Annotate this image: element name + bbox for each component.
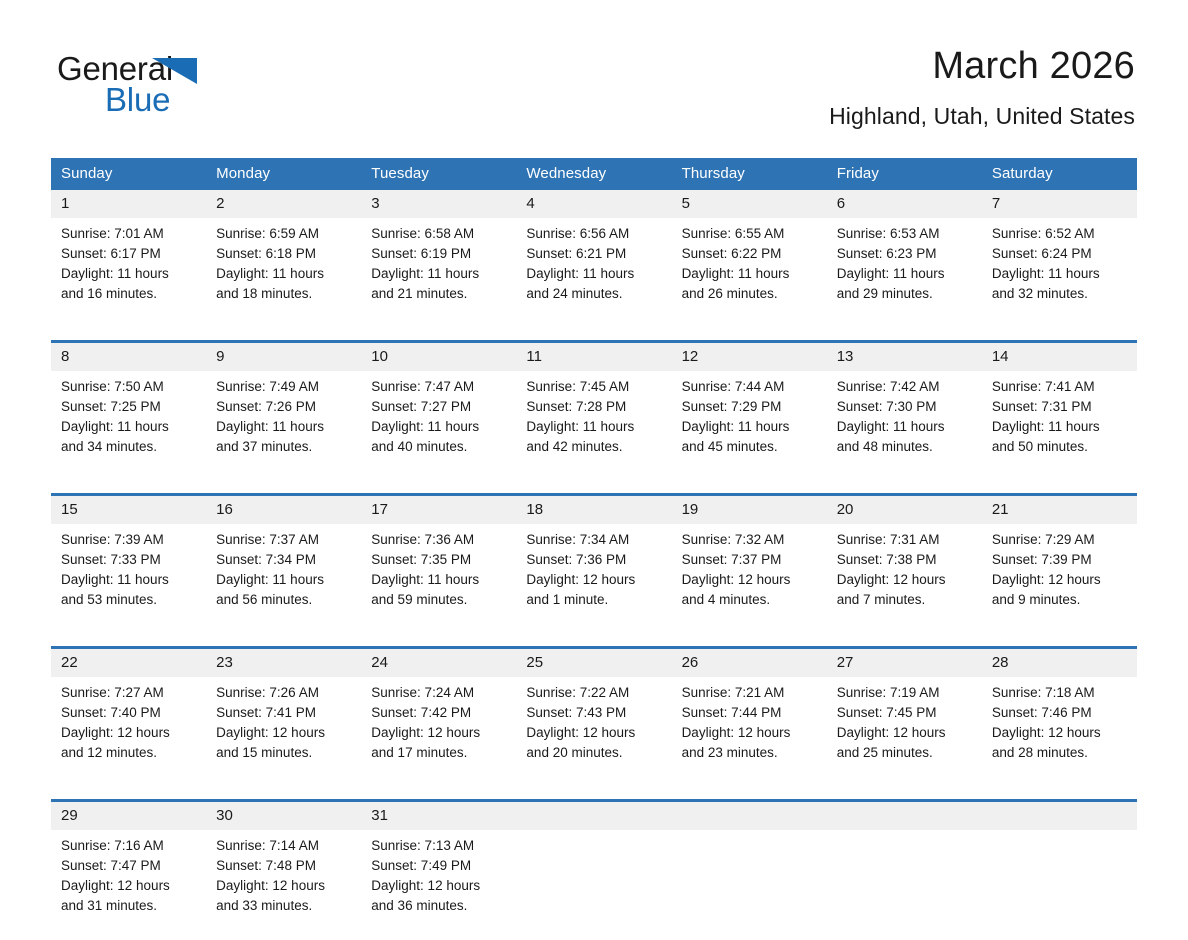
day-number: 13 [827,343,982,371]
daylight-text-line2: and 32 minutes. [992,284,1129,304]
daylight-text-line1: Daylight: 12 hours [992,723,1129,743]
week-spacer-cell [51,481,1137,495]
daylight-text-line2: and 48 minutes. [837,437,974,457]
sunset-text: Sunset: 7:25 PM [61,397,198,417]
daylight-text-line2: and 15 minutes. [216,743,353,763]
calendar-day-cell[interactable]: 8Sunrise: 7:50 AMSunset: 7:25 PMDaylight… [51,342,206,482]
calendar-week-row: 1Sunrise: 7:01 AMSunset: 6:17 PMDaylight… [51,190,1137,328]
day-sun-info: Sunrise: 7:37 AMSunset: 7:34 PMDaylight:… [206,524,361,622]
sunset-text: Sunset: 7:37 PM [682,550,819,570]
daylight-text-line1: Daylight: 12 hours [371,723,508,743]
daylight-text-line1: Daylight: 11 hours [837,264,974,284]
day-number: 4 [516,190,671,218]
day-sun-info: Sunrise: 7:47 AMSunset: 7:27 PMDaylight:… [361,371,516,469]
day-body: Sunrise: 7:36 AMSunset: 7:35 PMDaylight:… [361,524,516,634]
daylight-text-line1: Daylight: 12 hours [526,723,663,743]
daylight-text-line2: and 59 minutes. [371,590,508,610]
day-body: Sunrise: 7:31 AMSunset: 7:38 PMDaylight:… [827,524,982,634]
day-sun-info: Sunrise: 7:22 AMSunset: 7:43 PMDaylight:… [516,677,671,775]
week-spacer-cell [51,328,1137,342]
sunrise-text: Sunrise: 7:27 AM [61,683,198,703]
calendar-week-row: 22Sunrise: 7:27 AMSunset: 7:40 PMDayligh… [51,648,1137,788]
day-number: 12 [672,343,827,371]
day-number: 27 [827,649,982,677]
daylight-text-line1: Daylight: 11 hours [216,570,353,590]
sunset-text: Sunset: 7:46 PM [992,703,1129,723]
week-spacer-cell [51,634,1137,648]
day-sun-info: Sunrise: 6:56 AMSunset: 6:21 PMDaylight:… [516,218,671,316]
day-number: 24 [361,649,516,677]
day-number: 22 [51,649,206,677]
calendar-day-cell[interactable]: 26Sunrise: 7:21 AMSunset: 7:44 PMDayligh… [672,648,827,788]
daylight-text-line2: and 20 minutes. [526,743,663,763]
logo-text-blue: Blue [105,83,170,116]
day-number [827,802,982,830]
sunrise-text: Sunrise: 7:26 AM [216,683,353,703]
calendar-day-cell[interactable]: 5Sunrise: 6:55 AMSunset: 6:22 PMDaylight… [672,190,827,328]
day-sun-info: Sunrise: 7:19 AMSunset: 7:45 PMDaylight:… [827,677,982,775]
sunrise-text: Sunrise: 7:31 AM [837,530,974,550]
calendar-day-cell[interactable]: 18Sunrise: 7:34 AMSunset: 7:36 PMDayligh… [516,495,671,635]
daylight-text-line2: and 26 minutes. [682,284,819,304]
day-sun-info: Sunrise: 7:21 AMSunset: 7:44 PMDaylight:… [672,677,827,775]
sunrise-text: Sunrise: 7:21 AM [682,683,819,703]
daylight-text-line2: and 45 minutes. [682,437,819,457]
day-body: Sunrise: 7:22 AMSunset: 7:43 PMDaylight:… [516,677,671,787]
day-sun-info: Sunrise: 7:39 AMSunset: 7:33 PMDaylight:… [51,524,206,622]
day-sun-info: Sunrise: 6:52 AMSunset: 6:24 PMDaylight:… [982,218,1137,316]
daylight-text-line2: and 56 minutes. [216,590,353,610]
day-sun-info: Sunrise: 7:13 AMSunset: 7:49 PMDaylight:… [361,830,516,928]
day-sun-info: Sunrise: 7:32 AMSunset: 7:37 PMDaylight:… [672,524,827,622]
daylight-text-line1: Daylight: 12 hours [992,570,1129,590]
sunrise-text: Sunrise: 6:59 AM [216,224,353,244]
day-body: Sunrise: 7:42 AMSunset: 7:30 PMDaylight:… [827,371,982,481]
day-body: Sunrise: 7:50 AMSunset: 7:25 PMDaylight:… [51,371,206,481]
page-subtitle: Highland, Utah, United States [829,101,1135,131]
day-body [982,830,1137,940]
weekday-header-sunday: Sunday [51,158,206,190]
day-number [982,802,1137,830]
day-body [516,830,671,940]
day-number: 8 [51,343,206,371]
sunrise-text: Sunrise: 7:44 AM [682,377,819,397]
daylight-text-line2: and 40 minutes. [371,437,508,457]
week-spacer-row [51,481,1137,495]
day-number: 20 [827,496,982,524]
sunrise-text: Sunrise: 7:22 AM [526,683,663,703]
day-sun-info: Sunrise: 7:14 AMSunset: 7:48 PMDaylight:… [206,830,361,928]
week-spacer-row [51,634,1137,648]
day-number: 18 [516,496,671,524]
calendar-body: 1Sunrise: 7:01 AMSunset: 6:17 PMDaylight… [51,190,1137,940]
day-number: 2 [206,190,361,218]
sunrise-text: Sunrise: 7:42 AM [837,377,974,397]
daylight-text-line2: and 28 minutes. [992,743,1129,763]
sunrise-text: Sunrise: 7:50 AM [61,377,198,397]
day-sun-info: Sunrise: 7:50 AMSunset: 7:25 PMDaylight:… [51,371,206,469]
day-number: 3 [361,190,516,218]
day-number: 30 [206,802,361,830]
weekday-header-wednesday: Wednesday [516,158,671,190]
day-sun-info: Sunrise: 6:55 AMSunset: 6:22 PMDaylight:… [672,218,827,316]
daylight-text-line1: Daylight: 11 hours [992,417,1129,437]
daylight-text-line1: Daylight: 11 hours [682,264,819,284]
sunset-text: Sunset: 7:26 PM [216,397,353,417]
sunrise-text: Sunrise: 7:49 AM [216,377,353,397]
day-sun-info: Sunrise: 7:49 AMSunset: 7:26 PMDaylight:… [206,371,361,469]
day-body: Sunrise: 7:39 AMSunset: 7:33 PMDaylight:… [51,524,206,634]
weekday-header-monday: Monday [206,158,361,190]
sunrise-text: Sunrise: 7:36 AM [371,530,508,550]
sunrise-text: Sunrise: 7:37 AM [216,530,353,550]
day-number: 9 [206,343,361,371]
day-body [672,830,827,940]
calendar-week-row: 29Sunrise: 7:16 AMSunset: 7:47 PMDayligh… [51,801,1137,940]
daylight-text-line1: Daylight: 12 hours [837,570,974,590]
sunset-text: Sunset: 7:33 PM [61,550,198,570]
daylight-text-line1: Daylight: 12 hours [216,876,353,896]
daylight-text-line2: and 7 minutes. [837,590,974,610]
sunset-text: Sunset: 7:48 PM [216,856,353,876]
page-title: March 2026 [829,44,1135,88]
week-spacer-row [51,328,1137,342]
day-sun-info: Sunrise: 7:36 AMSunset: 7:35 PMDaylight:… [361,524,516,622]
day-sun-info: Sunrise: 7:34 AMSunset: 7:36 PMDaylight:… [516,524,671,622]
calendar-day-cell[interactable]: 11Sunrise: 7:45 AMSunset: 7:28 PMDayligh… [516,342,671,482]
daylight-text-line2: and 33 minutes. [216,896,353,916]
calendar-header-row: Sunday Monday Tuesday Wednesday Thursday… [51,158,1137,190]
sunset-text: Sunset: 7:43 PM [526,703,663,723]
day-sun-info: Sunrise: 7:27 AMSunset: 7:40 PMDaylight:… [51,677,206,775]
day-body: Sunrise: 7:13 AMSunset: 7:49 PMDaylight:… [361,830,516,940]
day-body: Sunrise: 7:21 AMSunset: 7:44 PMDaylight:… [672,677,827,787]
sunset-text: Sunset: 7:31 PM [992,397,1129,417]
sunset-text: Sunset: 7:28 PM [526,397,663,417]
calendar-day-cell[interactable]: 20Sunrise: 7:31 AMSunset: 7:38 PMDayligh… [827,495,982,635]
sunset-text: Sunset: 7:35 PM [371,550,508,570]
day-body: Sunrise: 7:27 AMSunset: 7:40 PMDaylight:… [51,677,206,787]
daylight-text-line1: Daylight: 12 hours [526,570,663,590]
weekday-header-tuesday: Tuesday [361,158,516,190]
sunset-text: Sunset: 7:47 PM [61,856,198,876]
page-header: General Blue March 2026 Highland, Utah, … [0,0,1188,110]
daylight-text-line1: Daylight: 11 hours [526,264,663,284]
day-body: Sunrise: 6:53 AMSunset: 6:23 PMDaylight:… [827,218,982,328]
day-body: Sunrise: 7:37 AMSunset: 7:34 PMDaylight:… [206,524,361,634]
day-body: Sunrise: 7:19 AMSunset: 7:45 PMDaylight:… [827,677,982,787]
daylight-text-line1: Daylight: 11 hours [371,264,508,284]
calendar-day-cell[interactable]: 12Sunrise: 7:44 AMSunset: 7:29 PMDayligh… [672,342,827,482]
calendar-day-cell[interactable]: 28Sunrise: 7:18 AMSunset: 7:46 PMDayligh… [982,648,1137,788]
sunset-text: Sunset: 7:38 PM [837,550,974,570]
sunrise-text: Sunrise: 7:16 AM [61,836,198,856]
day-number: 5 [672,190,827,218]
day-body [827,830,982,940]
day-body: Sunrise: 6:55 AMSunset: 6:22 PMDaylight:… [672,218,827,328]
day-body: Sunrise: 7:34 AMSunset: 7:36 PMDaylight:… [516,524,671,634]
daylight-text-line2: and 29 minutes. [837,284,974,304]
daylight-text-line1: Daylight: 11 hours [216,264,353,284]
sunset-text: Sunset: 7:30 PM [837,397,974,417]
day-body: Sunrise: 7:32 AMSunset: 7:37 PMDaylight:… [672,524,827,634]
sunset-text: Sunset: 6:22 PM [682,244,819,264]
calendar-day-cell[interactable]: 19Sunrise: 7:32 AMSunset: 7:37 PMDayligh… [672,495,827,635]
day-sun-info: Sunrise: 7:41 AMSunset: 7:31 PMDaylight:… [982,371,1137,469]
calendar-day-cell[interactable]: 6Sunrise: 6:53 AMSunset: 6:23 PMDaylight… [827,190,982,328]
daylight-text-line2: and 17 minutes. [371,743,508,763]
day-body: Sunrise: 7:14 AMSunset: 7:48 PMDaylight:… [206,830,361,940]
sunrise-text: Sunrise: 7:01 AM [61,224,198,244]
day-number: 17 [361,496,516,524]
daylight-text-line2: and 18 minutes. [216,284,353,304]
daylight-text-line2: and 53 minutes. [61,590,198,610]
daylight-text-line2: and 9 minutes. [992,590,1129,610]
sunset-text: Sunset: 7:41 PM [216,703,353,723]
sunset-text: Sunset: 6:18 PM [216,244,353,264]
daylight-text-line2: and 50 minutes. [992,437,1129,457]
calendar-day-cell[interactable] [827,801,982,940]
daylight-text-line1: Daylight: 11 hours [371,570,508,590]
calendar-day-cell[interactable]: 3Sunrise: 6:58 AMSunset: 6:19 PMDaylight… [361,190,516,328]
day-number: 11 [516,343,671,371]
sunrise-text: Sunrise: 7:34 AM [526,530,663,550]
daylight-text-line1: Daylight: 11 hours [992,264,1129,284]
sunset-text: Sunset: 6:19 PM [371,244,508,264]
daylight-text-line1: Daylight: 12 hours [216,723,353,743]
calendar-day-cell[interactable]: 25Sunrise: 7:22 AMSunset: 7:43 PMDayligh… [516,648,671,788]
calendar-day-cell[interactable]: 27Sunrise: 7:19 AMSunset: 7:45 PMDayligh… [827,648,982,788]
daylight-text-line1: Daylight: 12 hours [682,570,819,590]
sunset-text: Sunset: 6:17 PM [61,244,198,264]
sunrise-text: Sunrise: 6:52 AM [992,224,1129,244]
daylight-text-line2: and 37 minutes. [216,437,353,457]
title-block: March 2026 Highland, Utah, United States [829,44,1135,131]
sunset-text: Sunset: 7:49 PM [371,856,508,876]
day-body: Sunrise: 6:56 AMSunset: 6:21 PMDaylight:… [516,218,671,328]
day-sun-info: Sunrise: 7:01 AMSunset: 6:17 PMDaylight:… [51,218,206,316]
daylight-text-line1: Daylight: 11 hours [682,417,819,437]
sunset-text: Sunset: 6:23 PM [837,244,974,264]
calendar-day-cell[interactable]: 29Sunrise: 7:16 AMSunset: 7:47 PMDayligh… [51,801,206,940]
day-number: 31 [361,802,516,830]
day-body: Sunrise: 7:45 AMSunset: 7:28 PMDaylight:… [516,371,671,481]
sunrise-text: Sunrise: 7:29 AM [992,530,1129,550]
weekday-header-friday: Friday [827,158,982,190]
calendar-day-cell[interactable]: 23Sunrise: 7:26 AMSunset: 7:41 PMDayligh… [206,648,361,788]
daylight-text-line2: and 21 minutes. [371,284,508,304]
calendar-day-cell[interactable]: 30Sunrise: 7:14 AMSunset: 7:48 PMDayligh… [206,801,361,940]
daylight-text-line2: and 24 minutes. [526,284,663,304]
calendar-day-cell[interactable] [516,801,671,940]
week-spacer-row [51,787,1137,801]
daylight-text-line2: and 34 minutes. [61,437,198,457]
daylight-text-line1: Daylight: 12 hours [682,723,819,743]
daylight-text-line1: Daylight: 11 hours [61,570,198,590]
day-body: Sunrise: 7:24 AMSunset: 7:42 PMDaylight:… [361,677,516,787]
sunset-text: Sunset: 7:34 PM [216,550,353,570]
day-body: Sunrise: 7:01 AMSunset: 6:17 PMDaylight:… [51,218,206,328]
day-number: 25 [516,649,671,677]
sunrise-text: Sunrise: 6:58 AM [371,224,508,244]
day-sun-info: Sunrise: 7:45 AMSunset: 7:28 PMDaylight:… [516,371,671,469]
calendar-day-cell[interactable]: 4Sunrise: 6:56 AMSunset: 6:21 PMDaylight… [516,190,671,328]
calendar-day-cell[interactable] [672,801,827,940]
sunset-text: Sunset: 7:36 PM [526,550,663,570]
weekday-header-saturday: Saturday [982,158,1137,190]
daylight-text-line2: and 36 minutes. [371,896,508,916]
calendar-week-row: 15Sunrise: 7:39 AMSunset: 7:33 PMDayligh… [51,495,1137,635]
day-number: 19 [672,496,827,524]
general-blue-logo[interactable]: General Blue [57,52,257,124]
sunrise-text: Sunrise: 7:24 AM [371,683,508,703]
daylight-text-line1: Daylight: 12 hours [837,723,974,743]
daylight-text-line2: and 12 minutes. [61,743,198,763]
day-number [516,802,671,830]
day-number: 15 [51,496,206,524]
calendar-day-cell[interactable]: 14Sunrise: 7:41 AMSunset: 7:31 PMDayligh… [982,342,1137,482]
day-sun-info: Sunrise: 6:53 AMSunset: 6:23 PMDaylight:… [827,218,982,316]
day-number: 7 [982,190,1137,218]
day-sun-info: Sunrise: 7:16 AMSunset: 7:47 PMDaylight:… [51,830,206,928]
sunrise-text: Sunrise: 7:41 AM [992,377,1129,397]
daylight-text-line1: Daylight: 11 hours [61,264,198,284]
sunrise-text: Sunrise: 7:45 AM [526,377,663,397]
day-number: 29 [51,802,206,830]
day-body: Sunrise: 6:52 AMSunset: 6:24 PMDaylight:… [982,218,1137,328]
daylight-text-line2: and 1 minute. [526,590,663,610]
sunrise-text: Sunrise: 7:47 AM [371,377,508,397]
calendar-day-cell[interactable]: 2Sunrise: 6:59 AMSunset: 6:18 PMDaylight… [206,190,361,328]
sunrise-text: Sunrise: 6:55 AM [682,224,819,244]
calendar-day-cell[interactable]: 21Sunrise: 7:29 AMSunset: 7:39 PMDayligh… [982,495,1137,635]
daylight-text-line1: Daylight: 11 hours [371,417,508,437]
day-body: Sunrise: 7:26 AMSunset: 7:41 PMDaylight:… [206,677,361,787]
calendar-day-cell[interactable]: 16Sunrise: 7:37 AMSunset: 7:34 PMDayligh… [206,495,361,635]
daylight-text-line1: Daylight: 12 hours [371,876,508,896]
day-number: 1 [51,190,206,218]
day-sun-info: Sunrise: 7:24 AMSunset: 7:42 PMDaylight:… [361,677,516,775]
day-body: Sunrise: 7:44 AMSunset: 7:29 PMDaylight:… [672,371,827,481]
sunrise-text: Sunrise: 7:13 AM [371,836,508,856]
daylight-text-line2: and 4 minutes. [682,590,819,610]
daylight-text-line1: Daylight: 11 hours [61,417,198,437]
daylight-text-line2: and 25 minutes. [837,743,974,763]
day-body: Sunrise: 7:47 AMSunset: 7:27 PMDaylight:… [361,371,516,481]
day-number: 14 [982,343,1137,371]
day-sun-info: Sunrise: 7:44 AMSunset: 7:29 PMDaylight:… [672,371,827,469]
day-sun-info: Sunrise: 7:18 AMSunset: 7:46 PMDaylight:… [982,677,1137,775]
day-number: 23 [206,649,361,677]
sunset-text: Sunset: 7:44 PM [682,703,819,723]
calendar-table: Sunday Monday Tuesday Wednesday Thursday… [51,158,1137,940]
day-number: 21 [982,496,1137,524]
day-sun-info: Sunrise: 7:26 AMSunset: 7:41 PMDaylight:… [206,677,361,775]
day-body: Sunrise: 7:49 AMSunset: 7:26 PMDaylight:… [206,371,361,481]
calendar-day-cell[interactable]: 10Sunrise: 7:47 AMSunset: 7:27 PMDayligh… [361,342,516,482]
calendar-day-cell[interactable]: 24Sunrise: 7:24 AMSunset: 7:42 PMDayligh… [361,648,516,788]
daylight-text-line1: Daylight: 12 hours [61,723,198,743]
calendar-day-cell[interactable]: 13Sunrise: 7:42 AMSunset: 7:30 PMDayligh… [827,342,982,482]
sunset-text: Sunset: 7:29 PM [682,397,819,417]
calendar-day-cell[interactable]: 15Sunrise: 7:39 AMSunset: 7:33 PMDayligh… [51,495,206,635]
sunset-text: Sunset: 6:21 PM [526,244,663,264]
sunrise-text: Sunrise: 7:32 AM [682,530,819,550]
sunset-text: Sunset: 6:24 PM [992,244,1129,264]
day-body: Sunrise: 7:41 AMSunset: 7:31 PMDaylight:… [982,371,1137,481]
sunset-text: Sunset: 7:39 PM [992,550,1129,570]
day-number: 6 [827,190,982,218]
day-sun-info: Sunrise: 7:31 AMSunset: 7:38 PMDaylight:… [827,524,982,622]
day-number: 16 [206,496,361,524]
sunrise-text: Sunrise: 7:18 AM [992,683,1129,703]
calendar-day-cell[interactable]: 7Sunrise: 6:52 AMSunset: 6:24 PMDaylight… [982,190,1137,328]
day-body: Sunrise: 7:16 AMSunset: 7:47 PMDaylight:… [51,830,206,940]
weekday-header-row: Sunday Monday Tuesday Wednesday Thursday… [51,158,1137,190]
daylight-text-line2: and 31 minutes. [61,896,198,916]
sunset-text: Sunset: 7:27 PM [371,397,508,417]
sunrise-text: Sunrise: 6:53 AM [837,224,974,244]
day-sun-info: Sunrise: 7:29 AMSunset: 7:39 PMDaylight:… [982,524,1137,622]
weekday-header-thursday: Thursday [672,158,827,190]
calendar-page: General Blue March 2026 Highland, Utah, … [0,0,1188,918]
calendar-day-cell[interactable]: 1Sunrise: 7:01 AMSunset: 6:17 PMDaylight… [51,190,206,328]
daylight-text-line2: and 42 minutes. [526,437,663,457]
daylight-text-line1: Daylight: 11 hours [837,417,974,437]
day-sun-info: Sunrise: 7:42 AMSunset: 7:30 PMDaylight:… [827,371,982,469]
calendar-day-cell[interactable] [982,801,1137,940]
day-body: Sunrise: 6:59 AMSunset: 6:18 PMDaylight:… [206,218,361,328]
daylight-text-line1: Daylight: 11 hours [216,417,353,437]
daylight-text-line2: and 23 minutes. [682,743,819,763]
day-number: 10 [361,343,516,371]
sunrise-text: Sunrise: 7:39 AM [61,530,198,550]
sunrise-text: Sunrise: 6:56 AM [526,224,663,244]
day-sun-info: Sunrise: 6:59 AMSunset: 6:18 PMDaylight:… [206,218,361,316]
day-body: Sunrise: 7:29 AMSunset: 7:39 PMDaylight:… [982,524,1137,634]
calendar-week-row: 8Sunrise: 7:50 AMSunset: 7:25 PMDaylight… [51,342,1137,482]
day-sun-info: Sunrise: 6:58 AMSunset: 6:19 PMDaylight:… [361,218,516,316]
sunset-text: Sunset: 7:40 PM [61,703,198,723]
sunrise-text: Sunrise: 7:14 AM [216,836,353,856]
day-number: 28 [982,649,1137,677]
sunset-text: Sunset: 7:42 PM [371,703,508,723]
calendar-day-cell[interactable]: 9Sunrise: 7:49 AMSunset: 7:26 PMDaylight… [206,342,361,482]
calendar-day-cell[interactable]: 31Sunrise: 7:13 AMSunset: 7:49 PMDayligh… [361,801,516,940]
calendar-day-cell[interactable]: 17Sunrise: 7:36 AMSunset: 7:35 PMDayligh… [361,495,516,635]
daylight-text-line2: and 16 minutes. [61,284,198,304]
daylight-text-line1: Daylight: 12 hours [61,876,198,896]
sunset-text: Sunset: 7:45 PM [837,703,974,723]
daylight-text-line1: Daylight: 11 hours [526,417,663,437]
day-number: 26 [672,649,827,677]
sunrise-text: Sunrise: 7:19 AM [837,683,974,703]
day-body: Sunrise: 6:58 AMSunset: 6:19 PMDaylight:… [361,218,516,328]
week-spacer-cell [51,787,1137,801]
day-body: Sunrise: 7:18 AMSunset: 7:46 PMDaylight:… [982,677,1137,787]
calendar-day-cell[interactable]: 22Sunrise: 7:27 AMSunset: 7:40 PMDayligh… [51,648,206,788]
day-number [672,802,827,830]
